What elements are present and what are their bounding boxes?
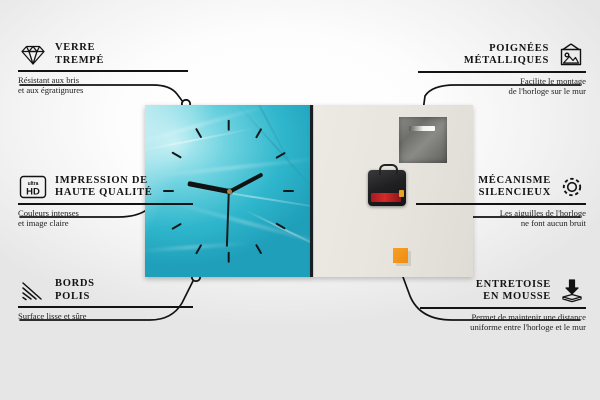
feature-header: POIGNÉES MÉTALLIQUES (418, 42, 586, 68)
diamond-icon (18, 43, 48, 67)
feature-header: ultra HD IMPRESSION DE HAUTE QUALITÉ (18, 174, 193, 200)
ultra-hd-badge-icon: ultra HD (18, 174, 48, 200)
foam-spacer (393, 248, 408, 263)
divider (420, 307, 586, 309)
battery-terminal (399, 190, 404, 197)
feature-description: Facilite le montage de l'horloge sur le … (418, 76, 586, 97)
clock-marker (283, 190, 294, 192)
feature-bords-polis: BORDS POLIS Surface lisse et sûre (18, 278, 193, 321)
feature-header: MÉCANISME SILENCIEUX (416, 174, 586, 200)
clock-marker (195, 128, 203, 139)
clock-marker (227, 120, 229, 131)
feature-verre-trempe: VERRE TREMPÉ Résistant aux bris et aux é… (18, 42, 188, 96)
clock-marker (255, 244, 263, 255)
hanger-slot (409, 126, 435, 131)
wall-mount-frame-icon (556, 42, 586, 68)
clock-marker (227, 252, 229, 263)
feature-description: Surface lisse et sûre (18, 311, 193, 322)
feature-title: ENTRETOISE EN MOUSSE (476, 279, 551, 304)
feature-entretoise-en-mousse: ENTRETOISE EN MOUSSE Permet de maintenir… (420, 278, 586, 333)
feature-description: Couleurs intenses et image claire (18, 208, 193, 229)
feature-title: VERRE TREMPÉ (55, 42, 104, 67)
clock-center-cap (227, 189, 232, 194)
feature-poignees-metalliques: POIGNÉES MÉTALLIQUES Facilite le montage… (418, 42, 586, 97)
feature-description: Permet de maintenir une distance uniform… (420, 312, 586, 333)
divider (416, 203, 586, 205)
movement-hanger-loop (379, 164, 398, 175)
feature-description: Résistant aux bris et aux égratignures (18, 75, 188, 96)
feature-mecanisme-silencieux: MÉCANISME SILENCIEUX Les aiguilles de l'… (416, 174, 586, 229)
clock-minute-hand (228, 172, 263, 193)
feature-title: BORDS POLIS (55, 278, 95, 303)
gear-icon (558, 174, 586, 200)
feature-description: Les aiguilles de l'horloge ne font aucun… (416, 208, 586, 229)
feature-impression-haute-qualite: ultra HD IMPRESSION DE HAUTE QUALITÉ Cou… (18, 174, 193, 229)
divider (418, 71, 586, 73)
clock-marker (171, 151, 182, 159)
hd-label: HD (26, 187, 40, 198)
polished-edges-icon (18, 280, 48, 302)
foam-spacer-arrow-icon (558, 278, 586, 304)
battery (371, 193, 401, 202)
feature-title: MÉCANISME SILENCIEUX (478, 175, 551, 200)
feature-header: VERRE TREMPÉ (18, 42, 188, 67)
feature-header: ENTRETOISE EN MOUSSE (420, 278, 586, 304)
feature-title: IMPRESSION DE HAUTE QUALITÉ (55, 175, 153, 200)
divider (18, 203, 193, 205)
feature-header: BORDS POLIS (18, 278, 193, 303)
metal-hanger-plate (399, 117, 447, 163)
divider (18, 70, 188, 72)
feature-title: POIGNÉES MÉTALLIQUES (464, 43, 549, 68)
clock-movement (368, 170, 406, 206)
product-feature-infographic: VERRE TREMPÉ Résistant aux bris et aux é… (0, 0, 600, 400)
divider (18, 306, 193, 308)
